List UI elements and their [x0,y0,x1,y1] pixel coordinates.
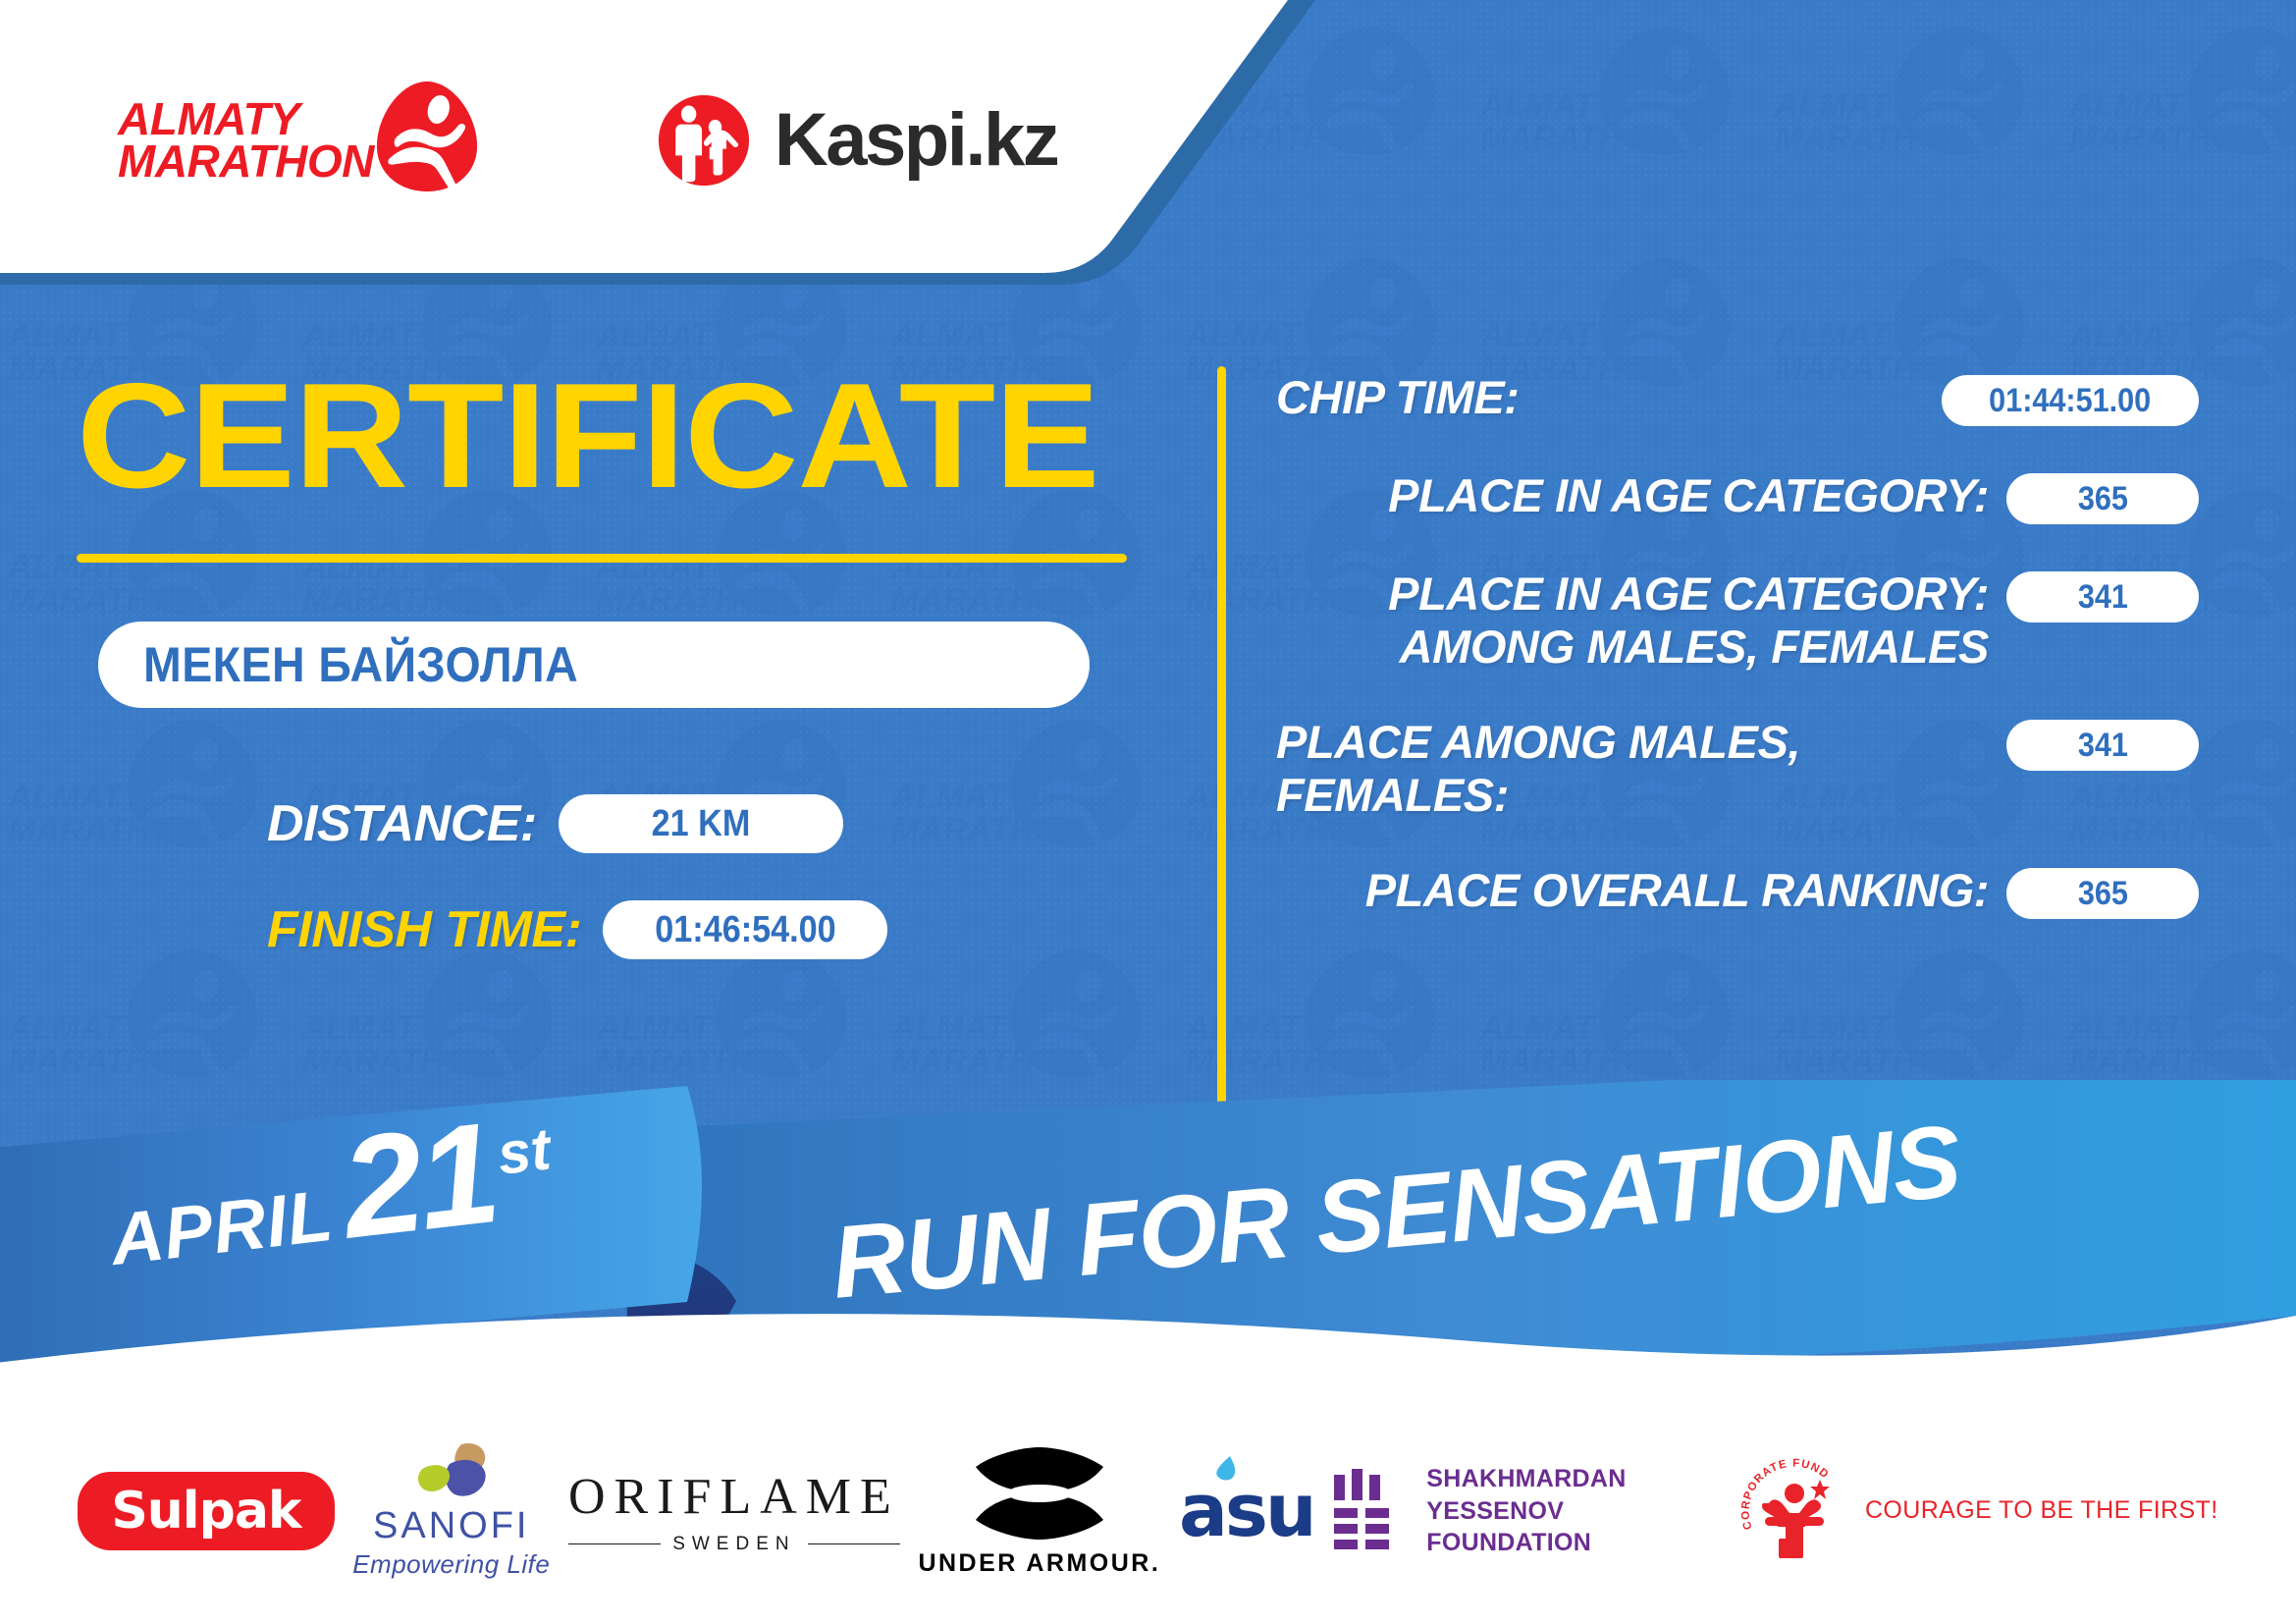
oriflame-rule-right [808,1543,900,1544]
place-age-category-label: PLACE IN AGE CATEGORY: [1276,469,2006,522]
finish-time-value-pill: 01:46:54.00 [603,900,887,959]
place-among-gender-value: 341 [2077,727,2127,765]
stat-row: PLACE AMONG MALES, FEMALES: 341 [1276,716,2199,821]
place-age-category-gender-value: 341 [2077,578,2127,617]
header-logo-row: ALMATY MARATHON Kaspi. [0,0,1227,280]
asu-wordmark: asu [1179,1469,1314,1553]
sponsor-bar: Sulpak SANOFI Empowering Life ORIFLAME S… [0,1398,2296,1624]
certificate-canvas: ALMATY MARATHON ALMATY MARATHON [0,0,2296,1624]
chip-time-value-pill: 01:44:51.00 [1942,375,2199,426]
participant-name-value: МЕКЕН БАЙЗОЛЛА [143,636,578,693]
finish-time-value: 01:46:54.00 [655,909,835,951]
runner-drop-icon [374,79,480,194]
sponsor-oriflame: ORIFLAME SWEDEN [568,1468,900,1555]
page-title: CERTIFICATE [77,361,1244,511]
chip-time-label: CHIP TIME: [1276,371,1942,424]
sanofi-tagline: Empowering Life [352,1549,550,1580]
stat-row: PLACE IN AGE CATEGORY: AMONG MALES, FEMA… [1276,568,2199,673]
finish-time-label: FINISH TIME: [267,900,581,959]
sponsor-asu: asu [1179,1469,1314,1553]
event-slogan: RUN FOR SENSATIONS [828,1104,1965,1323]
corporate-fund-runner-icon: CORPORATE FUND [1739,1456,1849,1566]
kaspi-wordmark: Kaspi.kz [774,103,1057,178]
sponsor-corporate-fund: CORPORATE FUND COURAGE TO BE THE FIRST! [1739,1456,2218,1566]
sanofi-bird-icon [406,1442,497,1503]
distance-value: 21 KM [651,803,750,845]
distance-row: DISTANCE: 21 KM [267,794,1178,853]
vertical-divider [1217,366,1226,1108]
place-age-category-value-pill: 365 [2006,473,2199,524]
stat-row: PLACE IN AGE CATEGORY: 365 [1276,469,2199,524]
kaspi-logo: Kaspi.kz [657,93,1057,188]
sponsor-sanofi: SANOFI Empowering Life [352,1442,550,1580]
corporate-fund-tagline: COURAGE TO BE THE FIRST! [1865,1494,2218,1528]
asu-label: asu [1179,1469,1314,1553]
asu-droplet-icon [1212,1455,1238,1485]
left-column: CERTIFICATE МЕКЕН БАЙЗОЛЛА DISTANCE: 21 … [0,295,1178,959]
sponsor-yessenov-foundation: SHAKHMARDAN YESSENOV FOUNDATION [1332,1463,1721,1559]
marathon-logo-line2: MARATHON [118,140,374,183]
oriflame-rule-left [568,1543,661,1544]
event-date: APRIL 21 st [102,1109,560,1281]
under-armour-icon [962,1445,1117,1543]
sponsor-under-armour: UNDER ARMOUR. [918,1445,1160,1578]
distance-value-pill: 21 KM [559,794,843,853]
under-armour-wordmark: UNDER ARMOUR. [918,1549,1160,1578]
oriflame-subline: SWEDEN [568,1534,900,1555]
sponsor-sulpak: Sulpak [78,1472,334,1550]
place-age-category-gender-label: PLACE IN AGE CATEGORY: AMONG MALES, FEMA… [1276,568,2006,673]
chip-time-value: 01:44:51.00 [1989,382,2151,420]
place-among-gender-label: PLACE AMONG MALES, FEMALES: [1276,716,2006,821]
event-day: 21 [337,1115,501,1247]
yessenov-bars-icon [1332,1469,1403,1553]
place-age-category-value: 365 [2077,480,2127,518]
distance-label: DISTANCE: [267,794,537,853]
marathon-logo-line1: ALMATY [118,98,374,140]
sulpak-wordmark: Sulpak [111,1482,300,1541]
place-overall-value-pill: 365 [2006,868,2199,919]
almaty-marathon-wordmark: ALMATY MARATHON [118,98,374,183]
finish-time-row: FINISH TIME: 01:46:54.00 [267,900,1178,959]
stats-column: CHIP TIME: 01:44:51.00 PLACE IN AGE CATE… [1276,371,2199,919]
place-overall-label: PLACE OVERALL RANKING: [1276,864,2006,917]
yessenov-wordmark: SHAKHMARDAN YESSENOV FOUNDATION [1426,1463,1721,1559]
participant-name-field: МЕКЕН БАЙЗОЛЛА [98,622,1090,708]
kaspi-people-icon [657,93,751,188]
sanofi-wordmark: SANOFI [373,1505,529,1547]
oriflame-wordmark: ORIFLAME [568,1468,900,1526]
stat-row: CHIP TIME: 01:44:51.00 [1276,371,2199,426]
event-month: APRIL [106,1173,337,1281]
place-among-gender-value-pill: 341 [2006,720,2199,771]
almaty-marathon-logo: ALMATY MARATHON [118,79,480,202]
title-divider-rule [77,554,1127,563]
event-day-suffix: st [494,1114,554,1188]
stat-row: PLACE OVERALL RANKING: 365 [1276,864,2199,919]
oriflame-tagline: SWEDEN [672,1534,795,1555]
place-overall-value: 365 [2077,875,2127,913]
place-age-category-gender-value-pill: 341 [2006,571,2199,623]
